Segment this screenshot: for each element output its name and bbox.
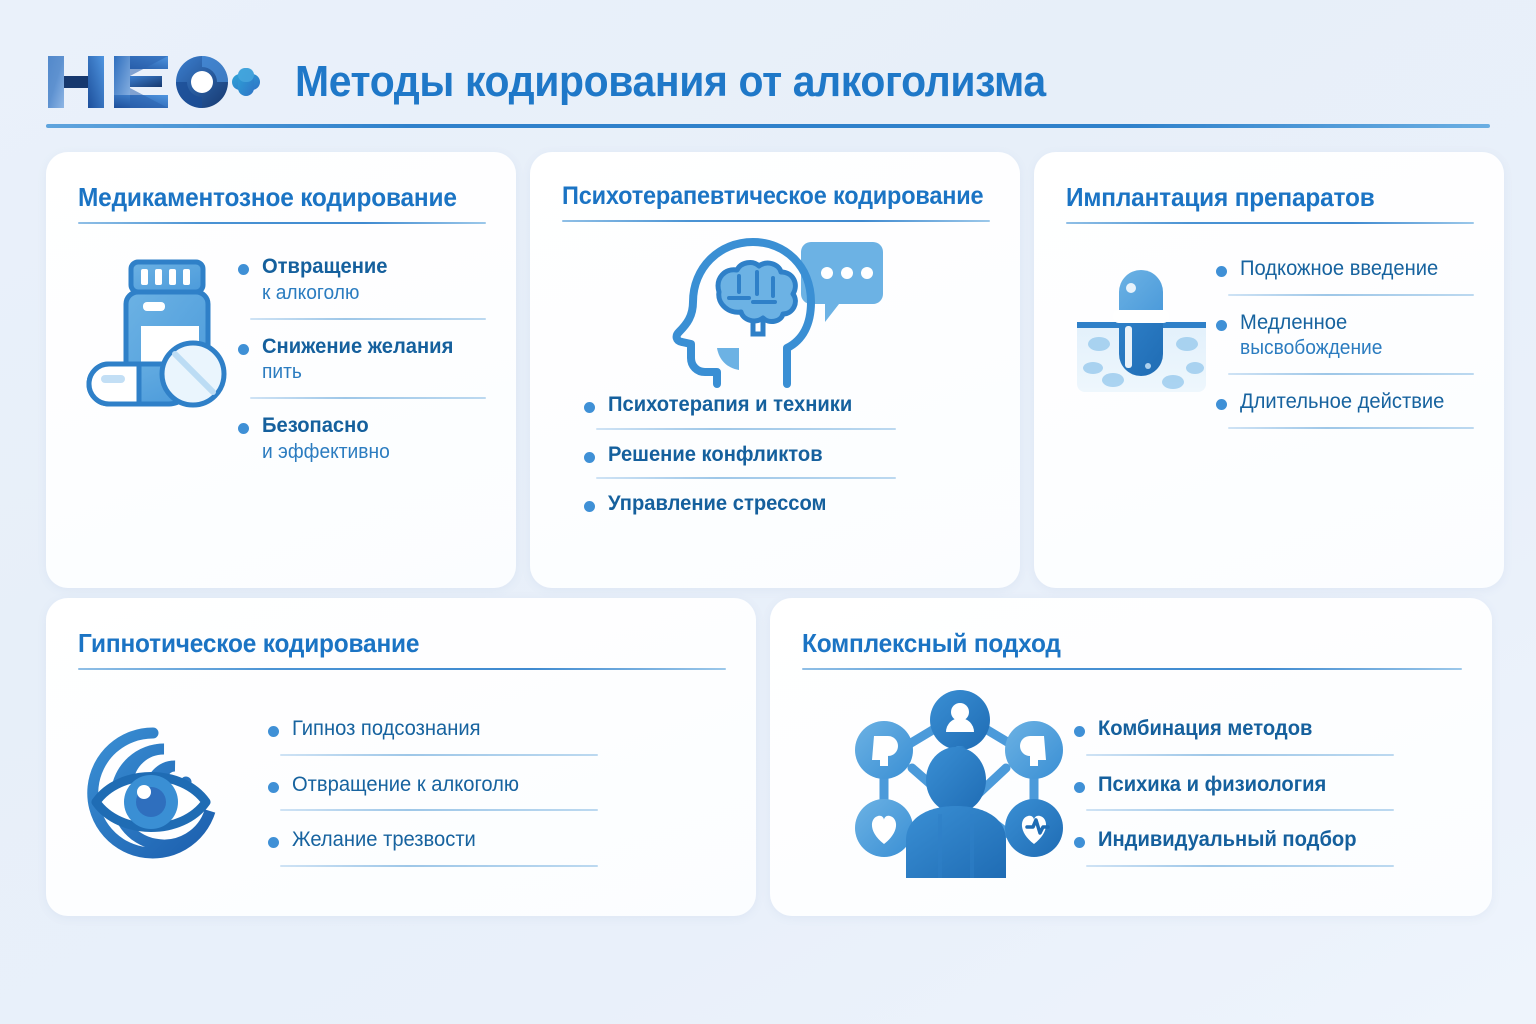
network-people-icon — [802, 688, 1074, 878]
bullet-dot — [1074, 837, 1085, 848]
bullet-separator — [250, 397, 486, 399]
bullet-item: Длительное действие — [1216, 389, 1474, 415]
bullet-separator — [1086, 754, 1394, 756]
bullet-dot — [584, 402, 595, 413]
bullet-separator — [1228, 294, 1474, 296]
head-brain-speech-icon — [661, 236, 891, 386]
bullet-separator — [1086, 865, 1394, 867]
bullet-separator — [1086, 809, 1394, 811]
bullet-line-primary: Решение конфликтов — [608, 442, 975, 468]
bullet-dot — [584, 501, 595, 512]
bullet-item: Снижение желания пить — [238, 334, 486, 386]
bullet-separator — [280, 754, 598, 756]
bullet-dot — [1216, 266, 1227, 277]
bullet-line-primary: Отвращение — [262, 254, 477, 280]
bullet-item: Медленное высвобождение — [1216, 310, 1474, 362]
bullet-item: Управление стрессом — [584, 491, 990, 517]
bullet-list: Гипноз подсознания Отвращение к алкоголю… — [268, 690, 598, 867]
card-title-divider — [78, 668, 726, 670]
bullet-separator — [1228, 427, 1474, 429]
bullet-dot — [268, 782, 279, 793]
header: Методы кодирования от алкоголизма — [46, 34, 1490, 130]
bullet-item: Комбинация методов — [1074, 716, 1394, 742]
neo-plus-logo — [46, 51, 261, 113]
card-title: Комплексный подход — [802, 628, 1422, 659]
bullet-separator — [280, 865, 598, 867]
bullet-line-primary: Психика и физиология — [1098, 772, 1382, 798]
bullet-line-primary: Отвращение к алкоголю — [292, 772, 586, 798]
page-title: Методы кодирования от алкоголизма — [295, 57, 1046, 107]
bullet-line-secondary: и эффективно — [262, 439, 477, 465]
bullet-item: Отвращение к алкоголю — [268, 772, 598, 798]
bullet-item: Гипноз подсознания — [268, 716, 598, 742]
bullet-separator — [596, 477, 896, 479]
pill-bottle-icon — [78, 250, 238, 465]
card-title-divider — [562, 220, 990, 222]
card-gipnoticheskoe-kodirovanie[interactable]: Гипнотическое кодирование — [46, 598, 756, 916]
card-title: Гипнотическое кодирование — [78, 628, 687, 659]
bullet-list: Подкожное введение Медленное высвобожден… — [1216, 250, 1474, 443]
bullet-line-primary: Безопасно — [262, 413, 477, 439]
card-implantaciya-preparatov[interactable]: Имплантация препаратов — [1034, 152, 1504, 588]
card-title-divider — [1066, 222, 1474, 224]
bullet-dot — [1074, 782, 1085, 793]
bullet-dot — [584, 452, 595, 463]
hypnosis-eye-icon — [78, 690, 268, 867]
bullet-separator — [1228, 373, 1474, 375]
bullet-dot — [1216, 399, 1227, 410]
bullet-line-secondary: пить — [262, 359, 477, 385]
card-title-divider — [78, 222, 486, 224]
card-psihoterapevticheskoe-kodirovanie[interactable]: Психотерапевтическое кодирование — [530, 152, 1020, 588]
card-medikamentoznoe-kodirovanie[interactable]: Медикаментозное кодирование — [46, 152, 516, 588]
bullet-item: Индивидуальный подбор — [1074, 827, 1394, 853]
bullet-line-primary: Индивидуальный подбор — [1098, 827, 1382, 853]
card-title: Психотерапевтическое кодирование — [562, 182, 964, 211]
bullet-item: Психика и физиология — [1074, 772, 1394, 798]
bullet-line-primary: Управление стрессом — [608, 491, 975, 517]
infographic-page: Методы кодирования от алкоголизма Медика… — [0, 0, 1536, 1024]
bullet-separator — [280, 809, 598, 811]
bullet-line-secondary: высвобождение — [1240, 335, 1465, 361]
bullet-item: Отвращение к алкоголю — [238, 254, 486, 306]
cards-row-bottom: Гипнотическое кодирование — [46, 598, 1492, 916]
bullet-item: Безопасно и эффективно — [238, 413, 486, 465]
bullet-item: Желание трезвости — [268, 827, 598, 853]
card-title-divider — [802, 668, 1462, 670]
bullet-item: Подкожное введение — [1216, 256, 1474, 282]
card-title: Имплантация препаратов — [1066, 182, 1450, 213]
card-title: Медикаментозное кодирование — [78, 182, 462, 213]
bullet-line-secondary: к алкоголю — [262, 280, 477, 306]
bullet-line-primary: Снижение желания — [262, 334, 477, 360]
cards-row-top: Медикаментозное кодирование — [46, 152, 1492, 588]
implant-capsule-icon — [1066, 250, 1216, 443]
bullet-dot — [268, 837, 279, 848]
bullet-separator — [250, 318, 486, 320]
bullet-line-primary: Психотерапия и техники — [608, 392, 975, 418]
bullet-line-primary: Гипноз подсознания — [292, 716, 586, 742]
card-kompleksnyj-podhod[interactable]: Комплексный подход — [770, 598, 1492, 916]
bullet-list: Отвращение к алкоголю Снижение желания п… — [238, 250, 486, 465]
bullet-dot — [238, 264, 249, 275]
bullet-list: Комбинация методов Психика и физиология … — [1074, 688, 1394, 878]
bullet-line-primary: Медленное — [1240, 310, 1465, 336]
bullet-dot — [238, 344, 249, 355]
bullet-line-primary: Комбинация методов — [1098, 716, 1382, 742]
bullet-line-primary: Желание трезвости — [292, 827, 586, 853]
bullet-line-primary: Подкожное введение — [1240, 256, 1465, 282]
bullet-item: Решение конфликтов — [584, 442, 990, 468]
header-divider — [46, 124, 1490, 128]
bullet-dot — [268, 726, 279, 737]
bullet-item: Психотерапия и техники — [584, 392, 990, 418]
bullet-dot — [238, 423, 249, 434]
bullet-line-primary: Длительное действие — [1240, 389, 1465, 415]
bullet-separator — [596, 428, 896, 430]
bullet-dot — [1074, 726, 1085, 737]
bullet-dot — [1216, 320, 1227, 331]
bullet-list: Психотерапия и техники Решение конфликто… — [562, 392, 990, 517]
